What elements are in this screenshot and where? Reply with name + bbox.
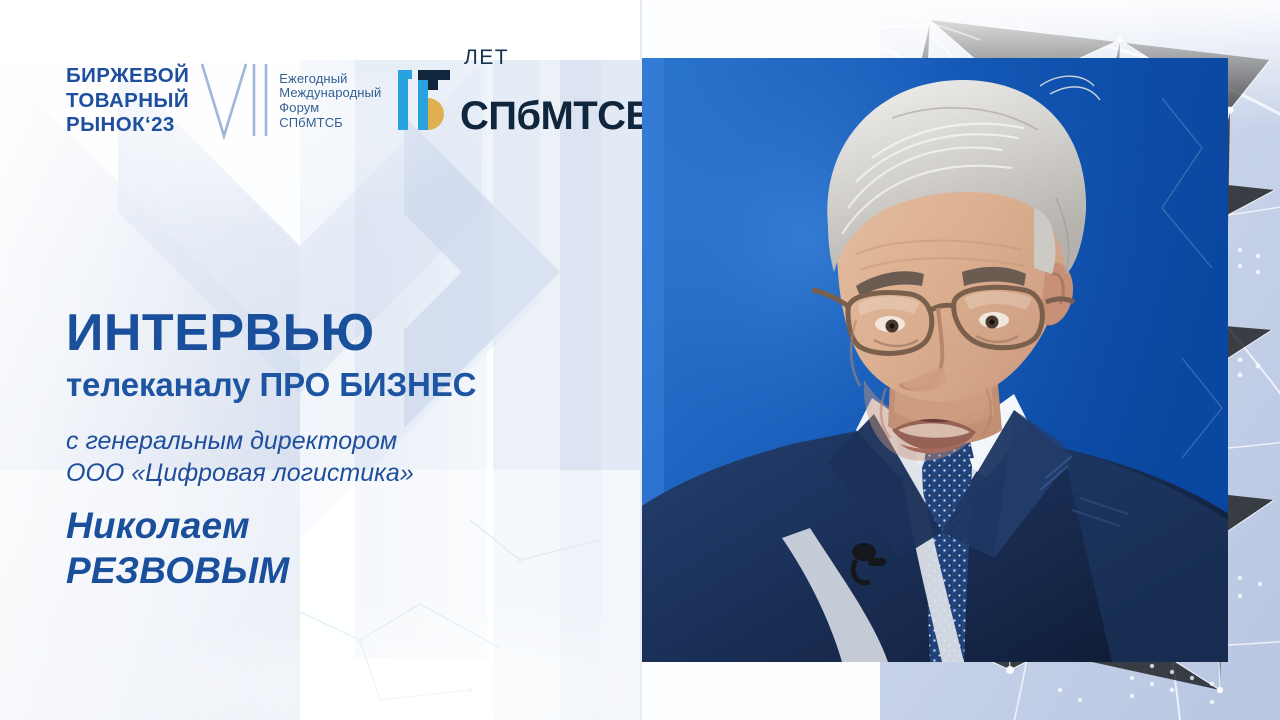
portrait-illustration (642, 58, 1228, 662)
slide-canvas: БИРЖЕВОЙ ТОВАРНЫЙ РЫНОК‘23 Ежегодный Меж… (0, 0, 1280, 720)
subheadline: телеканалу ПРО БИЗНЕС (66, 365, 646, 405)
anniversary-word: ЛЕТ (464, 46, 509, 70)
exchange-brand-name: СПбМТСБ (460, 96, 654, 136)
text-block: ИНТЕРВЬЮ телеканалу ПРО БИЗНЕС с генерал… (66, 305, 646, 593)
forum-logo-title: БИРЖЕВОЙ ТОВАРНЫЙ РЫНОК‘23 (66, 64, 189, 138)
interview-portrait (642, 58, 1228, 662)
headline: ИНТЕРВЬЮ (66, 305, 646, 361)
role-description: с генеральным директором ООО «Цифровая л… (66, 425, 646, 489)
edition-line-1: Ежегодный (279, 72, 381, 87)
edition-line-4: СПбМТСБ (279, 116, 381, 131)
guest-first-name: Николаем (66, 503, 646, 548)
roman-numeral-seven-icon (198, 62, 272, 140)
edition-line-3: Форум (279, 101, 381, 116)
role-line-2: ООО «Цифровая логистика» (66, 457, 646, 489)
spbmtsb-wordmark: ЛЕТ СПбМТСБ (460, 96, 654, 136)
forum-edition-text: Ежегодный Международный Форум СПбМТСБ (279, 72, 381, 130)
forum-title-line-2: ТОВАРНЫЙ (66, 89, 189, 114)
spbmtsb-logo: ЛЕТ СПбМТСБ (396, 58, 654, 136)
forum-title-line-3: РЫНОК‘23 (66, 113, 189, 138)
role-line-1: с генеральным директором (66, 425, 646, 457)
edition-line-2: Международный (279, 86, 381, 101)
forum-title-line-1: БИРЖЕВОЙ (66, 64, 189, 89)
forum-logo: БИРЖЕВОЙ ТОВАРНЫЙ РЫНОК‘23 Ежегодный Меж… (66, 62, 381, 140)
anniversary-15-icon (396, 58, 458, 136)
guest-name: Николаем РЕЗВОВЫМ (66, 503, 646, 593)
guest-last-name: РЕЗВОВЫМ (66, 548, 646, 593)
